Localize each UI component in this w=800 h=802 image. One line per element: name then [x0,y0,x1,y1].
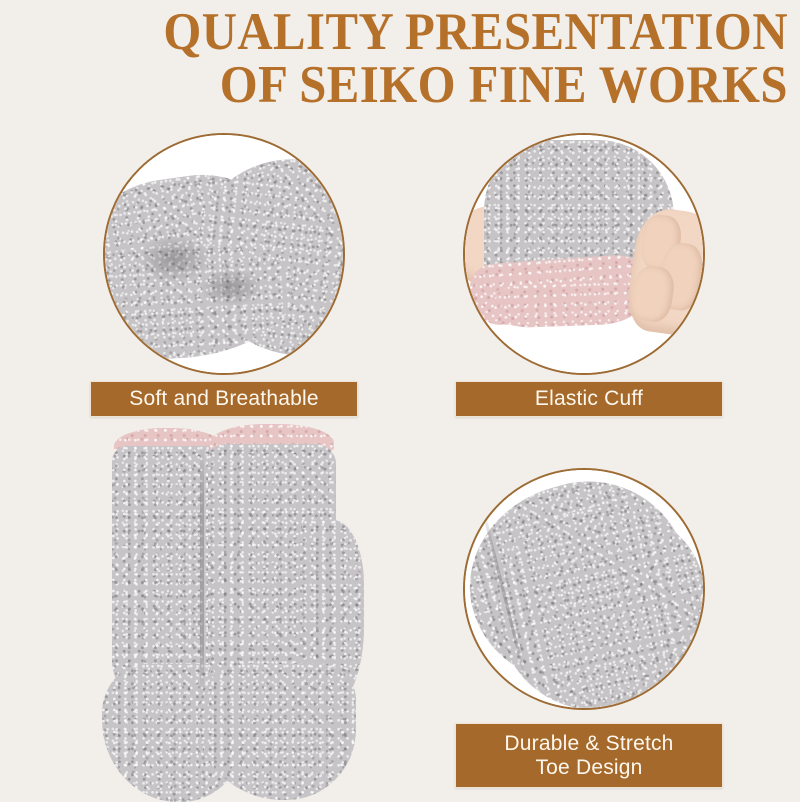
feature-image-soft-and-breathable [103,133,345,375]
sock-toe-photo [465,470,703,708]
feature-label-text-line2: Toe Design [535,756,642,780]
ribbed-pink-texture [493,280,642,328]
chenille-texture [198,664,356,800]
finger [629,264,676,323]
sock-separation-shadow [200,446,204,696]
feature-label-text: Elastic Cuff [535,387,643,411]
feature-label-elastic-cuff: Elastic Cuff [455,381,723,417]
photo-clip [465,135,703,373]
page-title: QUALITY PRESENTATION OF SEIKO FINE WORKS [0,8,800,110]
feature-label-text-line1: Durable & Stretch [504,732,673,756]
feature-label-soft-and-breathable: Soft and Breathable [90,381,358,417]
hands-stretching-cuff-photo [465,135,703,373]
title-line-1: QUALITY PRESENTATION [63,8,788,57]
fabric-shadow [138,235,209,283]
fuzzy-sock-fabric-photo [105,135,343,373]
product-photo-sock-pair [96,422,366,800]
feature-label-durable-stretch-toe: Durable & Stretch Toe Design [455,723,723,788]
feature-image-durable-stretch-toe [463,468,705,710]
feature-image-elastic-cuff [463,133,705,375]
photo-clip [465,470,703,708]
sock-foot [198,664,356,800]
pink-elastic-cuff-band-lower [493,280,642,328]
title-line-2: OF SEIKO FINE WORKS [63,61,788,110]
sock-front [204,424,364,800]
photo-clip [105,135,343,373]
feature-label-text: Soft and Breathable [129,387,318,411]
